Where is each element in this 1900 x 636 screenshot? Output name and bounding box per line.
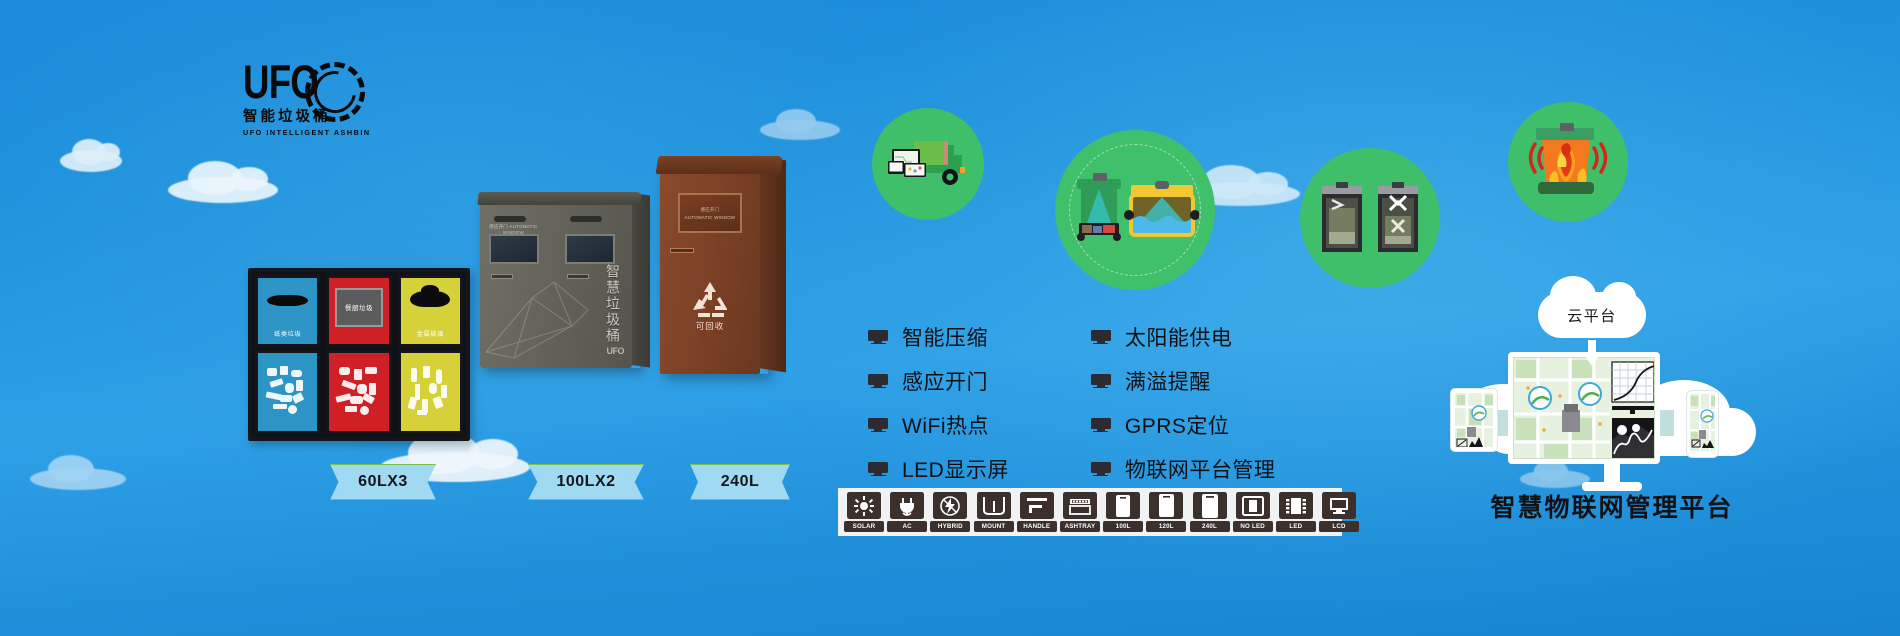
- litter-graphic: [334, 364, 384, 421]
- feature-label: 感应开门: [902, 366, 988, 396]
- bin-lid: [477, 192, 641, 205]
- monitor-icon: [1091, 374, 1111, 389]
- sensor-strip-icon: [570, 216, 602, 222]
- product-triple-bin: 纸类垃圾: [248, 268, 470, 441]
- litter-graphic: [263, 364, 313, 421]
- platform-title: 智慧物联网管理平台: [1442, 488, 1782, 524]
- led-display: 感应开门 AUTOMATIC WINDOW: [678, 193, 742, 233]
- bin-compartment-metal-glass: 金属玻璃: [398, 275, 463, 434]
- lightning-icon: [933, 492, 967, 519]
- monitor-dashboard-screen: [1513, 357, 1655, 459]
- feature-label: 智能压缩: [902, 322, 988, 352]
- feature-label: 满溢提醒: [1125, 366, 1211, 396]
- spec-label: NO LED: [1233, 521, 1273, 532]
- bin-240l-icon: [1193, 492, 1227, 519]
- product-double-bin: 感应开门 AUTOMATIC WINDOW 智慧垃圾桶: [480, 200, 640, 368]
- spec-item-240l: 240L: [1190, 492, 1230, 532]
- handle-icon: [1020, 492, 1054, 519]
- lcd-icon: [1322, 492, 1356, 519]
- bin-compartment-paper: 纸类垃圾: [255, 275, 320, 434]
- feature-list: 智能压缩 感应开门 WiFi热点 LED显示屏 太阳能供电 满溢提醒: [868, 322, 1275, 484]
- feature-item: 太阳能供电: [1091, 322, 1276, 352]
- led-icon: [1279, 492, 1313, 519]
- spec-label: HANDLE: [1017, 521, 1057, 532]
- spec-item-ac: AC: [887, 492, 927, 532]
- monitor-icon: [1091, 330, 1111, 345]
- spec-icon-strip: SOLAR AC HYBRID MOUNT: [838, 488, 1342, 536]
- monitor-stand: [1604, 462, 1620, 484]
- feature-column-right: 太阳能供电 满溢提醒 GPRS定位 物联网平台管理: [1091, 322, 1276, 484]
- spec-item-lcd: LCD: [1319, 492, 1359, 532]
- spec-item-solar: SOLAR: [844, 492, 884, 532]
- sun-icon: [847, 492, 881, 519]
- monitor-icon: [1091, 418, 1111, 433]
- compartment-label: 金属玻璃: [401, 329, 460, 338]
- spec-label: 120L: [1146, 521, 1186, 532]
- bin-brand-mark: UFO: [607, 346, 625, 356]
- feature-label: WiFi热点: [902, 410, 989, 440]
- spec-label: AC: [887, 521, 927, 532]
- spec-label: SOLAR: [844, 521, 884, 532]
- feature-item: GPRS定位: [1091, 410, 1276, 440]
- capacity-ribbon-240l: 240L: [690, 464, 790, 500]
- spec-item-hybrid: HYBRID: [930, 492, 970, 532]
- oval-slot-icon: [267, 295, 307, 306]
- monitor-icon: [868, 330, 888, 345]
- spec-item-100l: 100L: [1103, 492, 1143, 532]
- feature-item: 满溢提醒: [1091, 366, 1276, 396]
- brand-logo: UFO 智能垃圾桶 UFO INTELLIGENT ASHBIN: [243, 62, 375, 137]
- down-arrow-icon: [1580, 340, 1604, 366]
- capacity-ribbon-100lx2: 100LX2: [528, 464, 644, 500]
- spec-label: LED: [1276, 521, 1316, 532]
- compartment-label: 餐厨垃圾: [345, 302, 373, 312]
- spec-item-handle: HANDLE: [1017, 492, 1057, 532]
- bin-120l-icon: [1149, 492, 1183, 519]
- wall-mount-icon: [977, 492, 1011, 519]
- logo-english-name: UFO INTELLIGENT ASHBIN: [243, 128, 375, 137]
- led-display: [565, 234, 615, 264]
- compartment-label: 纸类垃圾: [258, 329, 317, 338]
- cloud-decoration: [760, 120, 840, 140]
- feature-label: 物联网平台管理: [1125, 454, 1276, 484]
- phone-device: [1686, 390, 1719, 458]
- cloud-decoration: [60, 150, 122, 172]
- screen-slot-icon: 餐厨垃圾: [335, 288, 382, 326]
- feature-label: GPRS定位: [1125, 410, 1230, 440]
- recycle-label: 可回收: [660, 320, 760, 332]
- dashed-ring-decoration: [1069, 144, 1201, 276]
- cloud-platform-badge: 云平台: [1538, 292, 1646, 338]
- cloud-slot-icon: [410, 291, 450, 307]
- product-single-bin: 感应开门 AUTOMATIC WINDOW 可回收: [660, 168, 768, 374]
- bin-vertical-text: 智慧垃圾桶: [603, 264, 623, 344]
- tablet-map-screen: [1455, 393, 1493, 447]
- bin-lid: [656, 156, 784, 174]
- spec-label: HYBRID: [930, 521, 970, 532]
- no-led-icon: [1236, 492, 1270, 519]
- collection-truck-monitoring-icon: [872, 108, 984, 220]
- spec-item-ashtray: ASHTRAY: [1060, 492, 1100, 532]
- tablet-device: [1450, 388, 1498, 452]
- spec-label: 100L: [1103, 521, 1143, 532]
- spec-label: MOUNT: [974, 521, 1014, 532]
- monitor-icon: [868, 374, 888, 389]
- spec-label: LCD: [1319, 521, 1359, 532]
- feature-item: 感应开门: [868, 366, 1009, 396]
- cloud-platform-label: 云平台: [1567, 305, 1617, 326]
- ashtray-icon: [1063, 492, 1097, 519]
- feature-item: LED显示屏: [868, 454, 1009, 484]
- litter-graphic: [405, 364, 455, 421]
- spec-label: ASHTRAY: [1060, 521, 1100, 532]
- bin-100l-icon: [1106, 492, 1140, 519]
- feature-item: WiFi热点: [868, 410, 1009, 440]
- spec-item-led: LED: [1276, 492, 1316, 532]
- feature-item: 物联网平台管理: [1091, 454, 1276, 484]
- iot-platform-illustration: 云平台 智慧物联网管理平台: [1442, 292, 1782, 522]
- feature-column-left: 智能压缩 感应开门 WiFi热点 LED显示屏: [868, 322, 1009, 484]
- waste-compaction-icon: [1300, 148, 1440, 288]
- spec-item-no-led: NO LED: [1233, 492, 1273, 532]
- monitor-icon: [868, 418, 888, 433]
- bin-compartment-kitchen: 餐厨垃圾: [326, 275, 391, 434]
- recycle-icon: [690, 280, 730, 318]
- led-display: [489, 234, 539, 264]
- bin-side-panel: [756, 156, 786, 373]
- spec-item-120l: 120L: [1146, 492, 1186, 532]
- promo-banner: UFO 智能垃圾桶 UFO INTELLIGENT ASHBIN 纸类垃圾: [0, 0, 1900, 636]
- plug-icon: [890, 492, 924, 519]
- capacity-ribbon-60lx3: 60LX3: [330, 464, 436, 500]
- spec-item-mount: MOUNT: [974, 492, 1014, 532]
- monitor-icon: [1091, 462, 1111, 477]
- fill-level-sensor-icon: [1055, 130, 1215, 290]
- monitor-icon: [868, 462, 888, 477]
- cloud-decoration: [30, 468, 126, 490]
- feature-label: 太阳能供电: [1125, 322, 1233, 352]
- cloud-decoration: [168, 177, 278, 203]
- desktop-monitor: [1508, 352, 1660, 464]
- bin-body: 感应开门 AUTOMATIC WINDOW 智慧垃圾桶: [480, 200, 632, 368]
- phone-map-screen: [1690, 394, 1715, 451]
- polygon-pattern-graphic: [484, 268, 594, 360]
- door-handle-icon: [670, 248, 694, 253]
- feature-label: LED显示屏: [902, 454, 1009, 484]
- fire-alarm-icon: [1508, 102, 1628, 222]
- display-line-2: AUTOMATIC WINDOW: [685, 215, 736, 220]
- bin-body: 感应开门 AUTOMATIC WINDOW 可回收: [660, 168, 760, 374]
- spec-label: 240L: [1190, 521, 1230, 532]
- sensor-strip-icon: [494, 216, 526, 222]
- display-line-1: 感应开门: [701, 207, 720, 213]
- feature-item: 智能压缩: [868, 322, 1009, 352]
